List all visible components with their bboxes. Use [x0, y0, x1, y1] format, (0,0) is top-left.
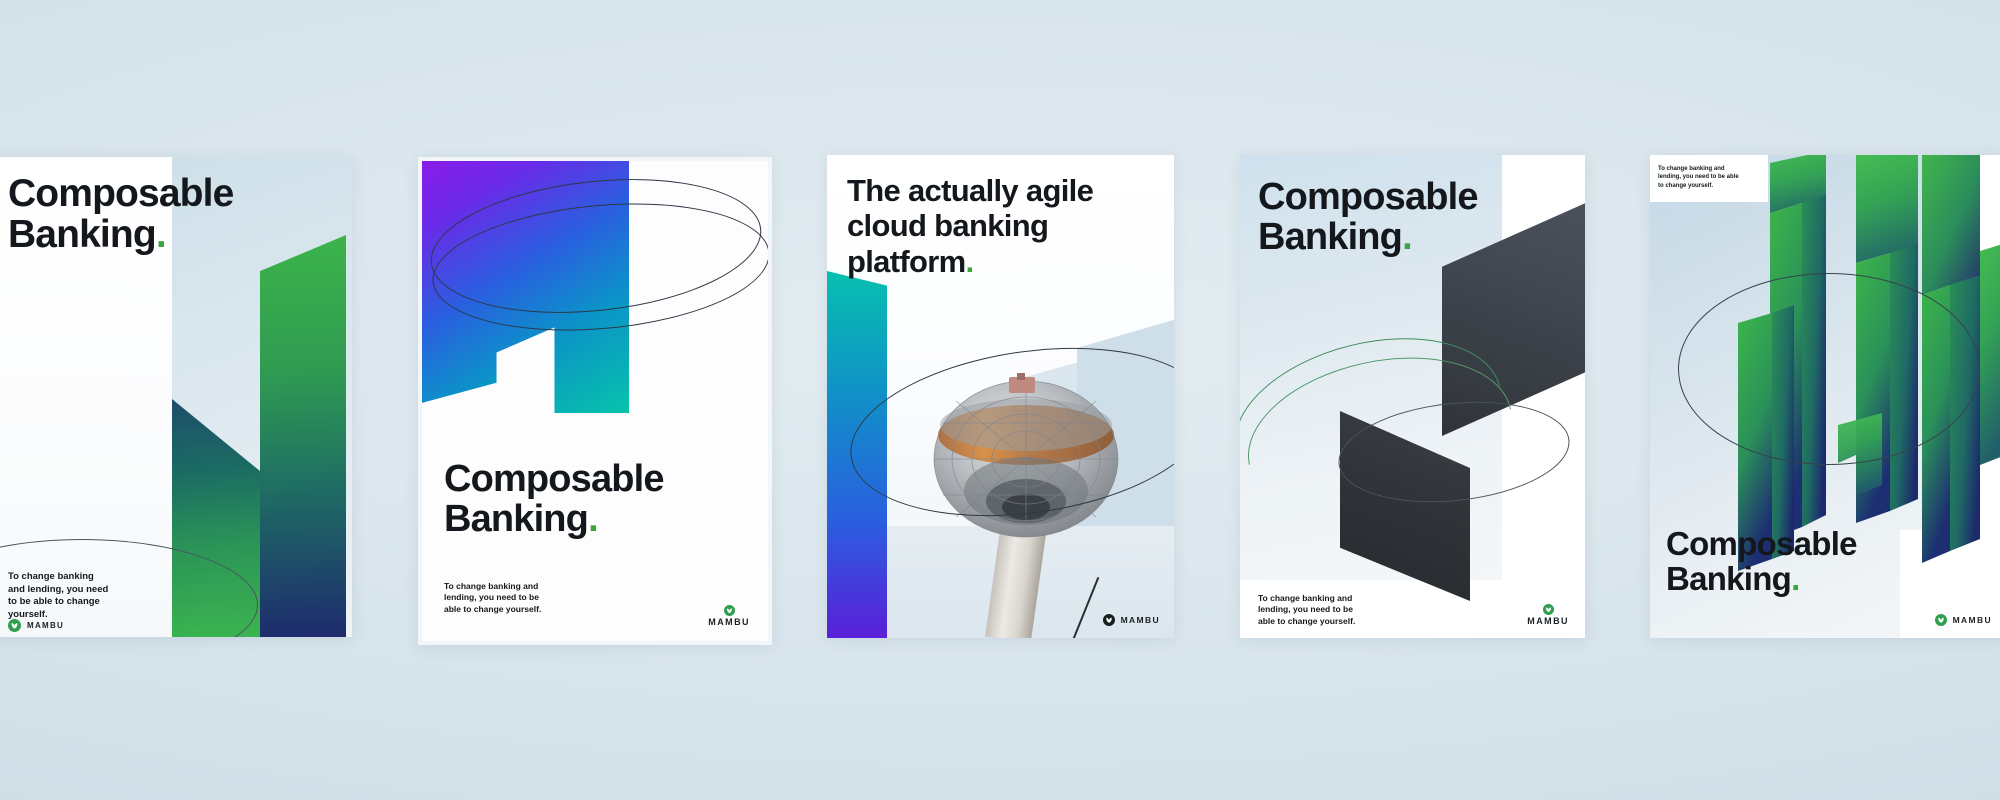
poster-2-headline-line2: Banking — [444, 498, 588, 540]
poster-2-accent-dot: . — [588, 498, 598, 540]
mambu-leaf-circle-icon — [724, 605, 735, 616]
poster-5-headline-line1: Composable — [1666, 525, 1857, 562]
poster-series-canvas: ComposableBanking. To change banking and… — [0, 0, 2000, 800]
poster-2[interactable]: ComposableBanking. To change banking and… — [418, 157, 772, 645]
poster-3-headline: The actually agilecloud bankingplatform. — [847, 173, 1093, 279]
poster-2-artwork — [422, 161, 768, 641]
poster-2-headline-line1: Composable — [444, 458, 664, 500]
poster-4[interactable]: ComposableBanking. To change banking and… — [1240, 155, 1585, 638]
poster-4-headline-line2: Banking — [1258, 216, 1402, 258]
poster-5-ellipse-line — [1678, 273, 1980, 465]
poster-5[interactable]: To change banking and lending, you need … — [1650, 155, 2000, 638]
poster-4-headline: ComposableBanking. — [1258, 177, 1478, 258]
poster-2-tagline: To change banking and lending, you need … — [444, 581, 541, 615]
poster-1-mambu-logo[interactable]: MAMBU — [8, 619, 64, 632]
poster-2-mambu-wordmark: MAMBU — [708, 618, 750, 627]
poster-3-accent-dot: . — [966, 244, 974, 279]
poster-5-headline-line2: Banking — [1666, 560, 1791, 597]
poster-5-mambu-logo[interactable]: MAMBU — [1935, 614, 1992, 626]
poster-1-accent-dot: . — [156, 213, 166, 256]
poster-1-mambu-wordmark: MAMBU — [27, 622, 64, 630]
poster-1-headline-line1: Composable — [8, 172, 233, 215]
poster-3-headline-line2: cloud banking — [847, 208, 1048, 243]
poster-2-headline: ComposableBanking. — [444, 459, 664, 540]
poster-1-headline-line2: Banking — [8, 213, 156, 256]
poster-4-mambu-wordmark: MAMBU — [1527, 617, 1569, 626]
poster-3-mambu-wordmark: MAMBU — [1121, 616, 1160, 625]
poster-3-headline-line1: The actually agile — [847, 173, 1093, 208]
poster-5-headline: ComposableBanking. — [1666, 527, 1857, 597]
poster-3[interactable]: The actually agilecloud bankingplatform.… — [827, 155, 1174, 638]
poster-1-tall-bar — [260, 235, 346, 637]
poster-5-tagline: To change banking and lending, you need … — [1658, 165, 1739, 190]
poster-4-headline-line1: Composable — [1258, 176, 1478, 218]
poster-3-mambu-logo[interactable]: MAMBU — [1103, 614, 1160, 626]
mambu-leaf-circle-icon — [1103, 614, 1115, 626]
poster-5-accent-dot: . — [1791, 560, 1799, 597]
mambu-leaf-circle-icon — [8, 619, 21, 632]
poster-1-headline: ComposableBanking. — [8, 173, 233, 256]
poster-2-mambu-logo[interactable]: MAMBU — [708, 605, 750, 627]
poster-4-mambu-logo[interactable]: MAMBU — [1527, 604, 1569, 626]
mambu-leaf-circle-icon — [1935, 614, 1947, 626]
poster-3-headline-line3: platform — [847, 244, 966, 279]
poster-4-accent-dot: . — [1402, 216, 1412, 258]
poster-1-tagline: To change banking and lending, you need … — [8, 571, 108, 622]
poster-4-tagline: To change banking and lending, you need … — [1258, 593, 1355, 627]
poster-1[interactable]: ComposableBanking. To change banking and… — [0, 157, 352, 637]
poster-5-mambu-wordmark: MAMBU — [1953, 616, 1992, 625]
mambu-leaf-circle-icon — [1543, 604, 1554, 615]
